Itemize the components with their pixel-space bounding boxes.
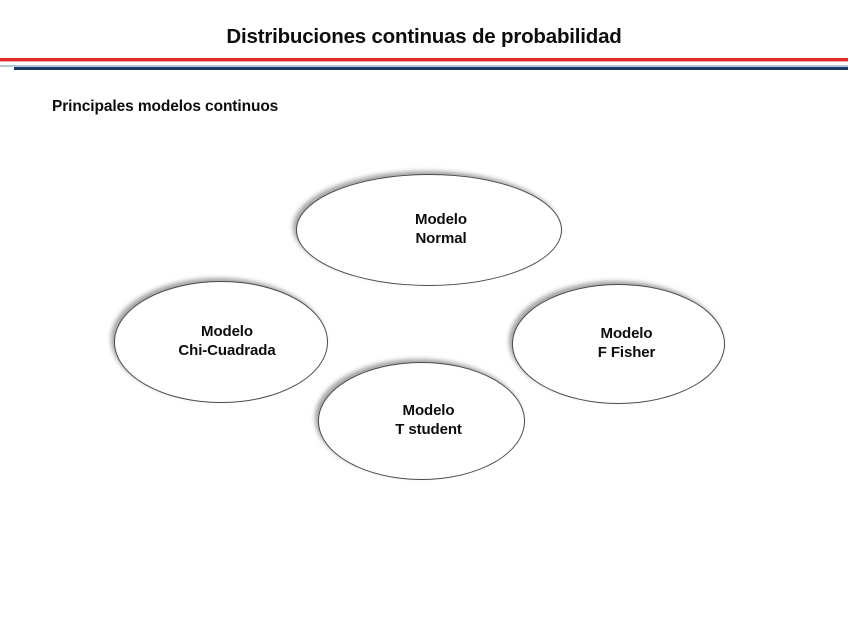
diagram-node-normal: Modelo Normal	[296, 174, 560, 284]
models-diagram: Modelo Normal Modelo Chi-Cuadrada Modelo…	[0, 0, 848, 636]
ellipse-shape	[318, 362, 525, 480]
diagram-node-t-student: Modelo T student	[318, 362, 523, 478]
diagram-node-f-fisher: Modelo F Fisher	[512, 284, 723, 402]
ellipse-shape	[114, 281, 328, 403]
slide: Distribuciones continuas de probabilidad…	[0, 0, 848, 636]
diagram-node-chi-cuadrada: Modelo Chi-Cuadrada	[114, 281, 326, 401]
ellipse-shape	[512, 284, 725, 404]
ellipse-shape	[296, 174, 562, 286]
